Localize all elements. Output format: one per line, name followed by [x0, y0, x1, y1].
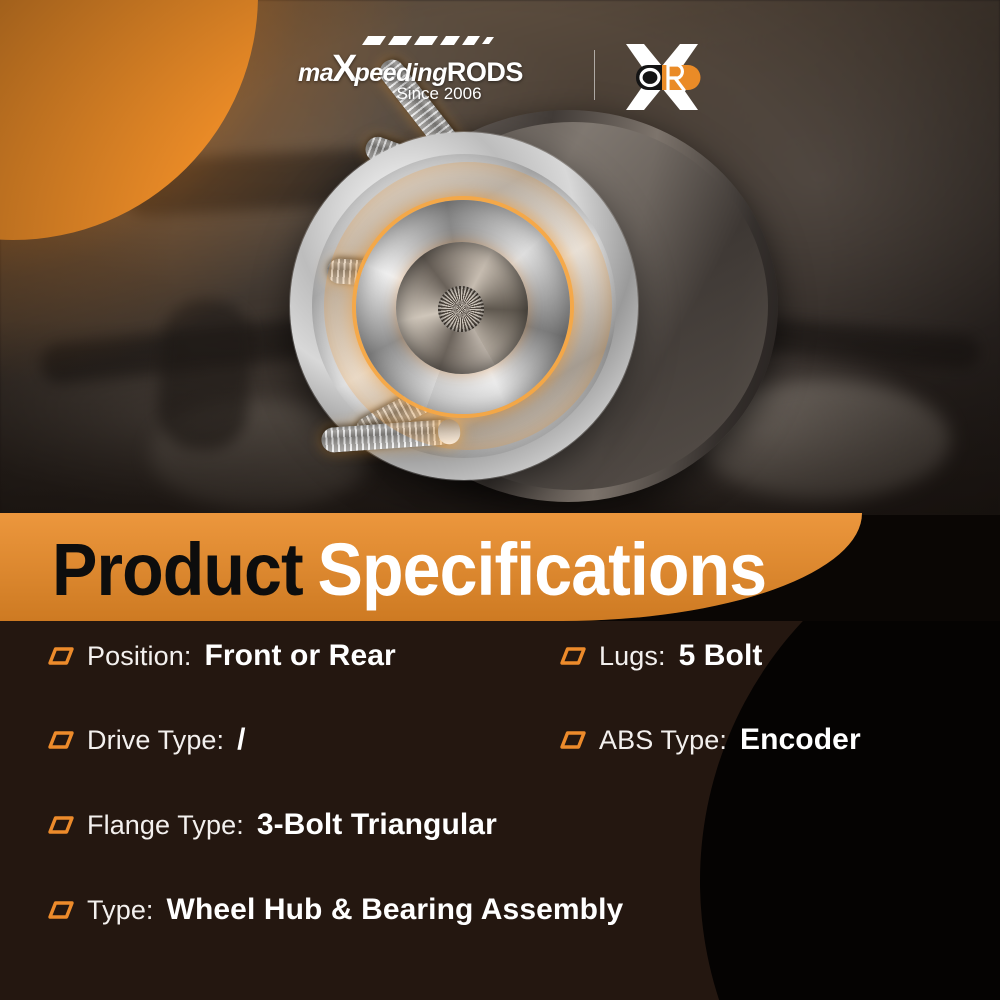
hero-product-photo: ma X peeding RODS Since 2006	[0, 0, 1000, 515]
parallelogram-bullet-icon	[560, 730, 586, 750]
spec-row-abs-type: ABS Type: Encoder	[560, 723, 861, 757]
spline-teeth	[438, 286, 484, 332]
parallelogram-bullet-icon	[560, 646, 586, 666]
brand-tagline: Since 2006	[364, 84, 514, 104]
brand-wordmark: ma X peeding RODS	[298, 48, 570, 78]
spec-row-lugs: Lugs: 5 Bolt	[560, 639, 763, 673]
parallelogram-bullet-icon	[48, 900, 74, 920]
specifications-panel: Position: Front or Rear Lugs: 5 Bolt Dri…	[0, 621, 1000, 1000]
spec-value: Front or Rear	[204, 639, 395, 673]
spec-row-drive-type: Drive Type: /	[48, 723, 246, 757]
spec-value: Wheel Hub & Bearing Assembly	[167, 893, 624, 927]
logo-divider	[594, 50, 595, 100]
parallelogram-bullet-icon	[48, 815, 74, 835]
or-x-badge-icon	[620, 40, 704, 114]
page-title-product: Product	[52, 527, 303, 612]
spec-row-type: Type: Wheel Hub & Bearing Assembly	[48, 893, 623, 927]
spec-label: Drive Type:	[87, 725, 224, 756]
parallelogram-bullet-icon	[48, 730, 74, 750]
wordmark-ma: ma	[298, 59, 333, 88]
spec-value: 3-Bolt Triangular	[257, 808, 497, 842]
wordmark-x: X	[332, 48, 355, 91]
spec-value: 5 Bolt	[679, 639, 763, 673]
brand-logo: ma X peeding RODS Since 2006	[298, 26, 702, 98]
spec-row-flange-type: Flange Type: 3-Bolt Triangular	[48, 808, 497, 842]
spec-value: /	[237, 723, 245, 757]
page-title: Product Specifications	[52, 519, 766, 619]
page-title-specifications: Specifications	[317, 527, 766, 612]
spec-label: Type:	[87, 895, 154, 926]
spec-label: ABS Type:	[599, 725, 727, 756]
wheel-hub-assembly	[228, 92, 788, 512]
dark-ellipse-decoration	[700, 621, 1000, 1000]
spec-label: Flange Type:	[87, 810, 244, 841]
spec-label: Position:	[87, 641, 191, 672]
spec-label: Lugs:	[599, 641, 666, 672]
spec-value: Encoder	[740, 723, 861, 757]
product-spec-graphic: ma X peeding RODS Since 2006 Product	[0, 0, 1000, 1000]
spec-row-position: Position: Front or Rear	[48, 639, 396, 673]
parallelogram-bullet-icon	[48, 646, 74, 666]
